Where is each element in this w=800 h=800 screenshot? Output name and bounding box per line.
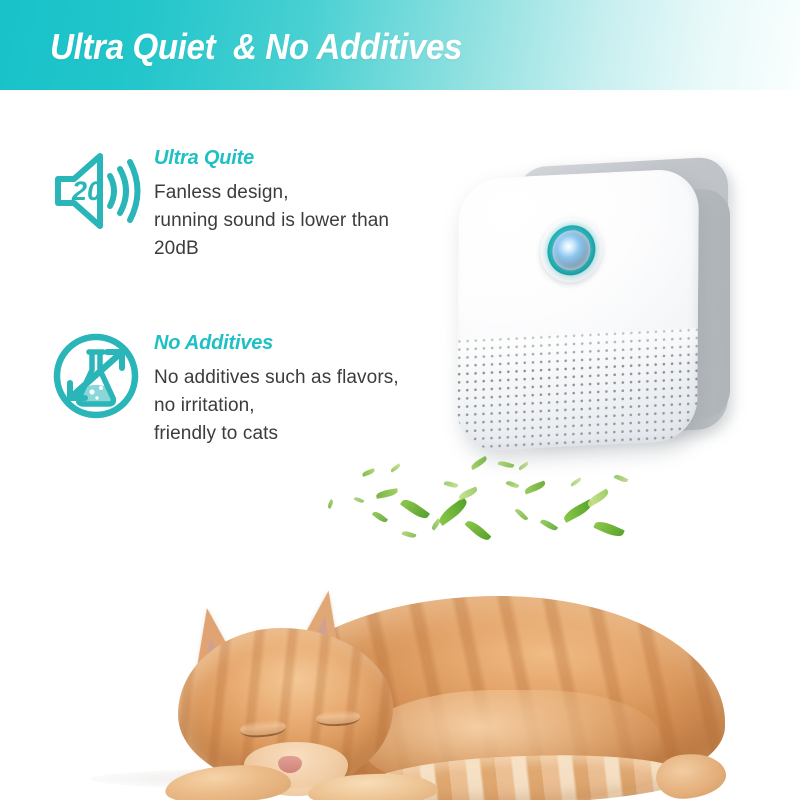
speaker-volume-icon: 20 — [48, 143, 144, 239]
sleeping-orange-tabby-cat — [60, 570, 720, 800]
feature-body-no-additives: No additives such as flavors, no irritat… — [154, 364, 399, 448]
leaf — [614, 473, 629, 484]
feature-heading-ultra-quiet: Ultra Quite — [154, 147, 389, 170]
device-indicator-button — [540, 217, 602, 284]
feature-heading-no-additives: No Additives — [154, 332, 399, 355]
feature-body-ultra-quiet: Fanless design, running sound is lower t… — [154, 179, 389, 263]
leaf — [402, 530, 417, 539]
leaf — [372, 510, 388, 525]
leaf — [593, 518, 624, 539]
leaf — [470, 456, 489, 470]
product-marketing-page: Ultra Quiet & No Additives 20 Ultra Quit… — [0, 0, 800, 800]
indicator-teal-ring — [547, 224, 595, 276]
leaf — [506, 479, 520, 489]
feature-block-no-additives: No Additives No additives such as flavor… — [48, 328, 399, 448]
leaf — [327, 499, 335, 509]
product-device-image — [448, 152, 748, 472]
leaf — [570, 477, 582, 486]
header-banner: Ultra Quiet & No Additives — [0, 0, 800, 90]
feature-text-no-additives: No Additives No additives such as flavor… — [144, 328, 399, 448]
leaf — [390, 463, 401, 472]
leaf — [515, 507, 529, 521]
speaker-db-badge: 20 — [71, 176, 102, 206]
leaf — [362, 468, 376, 477]
indicator-blue-glow-light — [552, 229, 590, 271]
leaf — [523, 480, 546, 494]
leaf — [540, 517, 558, 532]
perforated-dot-grid-vent — [457, 328, 698, 452]
leaf — [498, 460, 515, 470]
leaf — [400, 496, 430, 522]
leaf — [457, 487, 478, 501]
leaf — [436, 497, 470, 526]
device-front-panel — [457, 168, 699, 452]
leaf — [376, 488, 399, 499]
floating-green-leaves — [318, 448, 638, 568]
leaf — [518, 462, 530, 471]
leaf — [444, 480, 459, 489]
feature-text-ultra-quiet: Ultra Quite Fanless design, running soun… — [144, 143, 389, 263]
feature-block-ultra-quiet: 20 Ultra Quite Fanless design, running s… — [48, 143, 389, 263]
leaf — [354, 496, 365, 504]
leaf — [465, 518, 492, 543]
no-chemicals-flask-icon — [48, 328, 144, 424]
page-title: Ultra Quiet & No Additives — [50, 26, 462, 68]
